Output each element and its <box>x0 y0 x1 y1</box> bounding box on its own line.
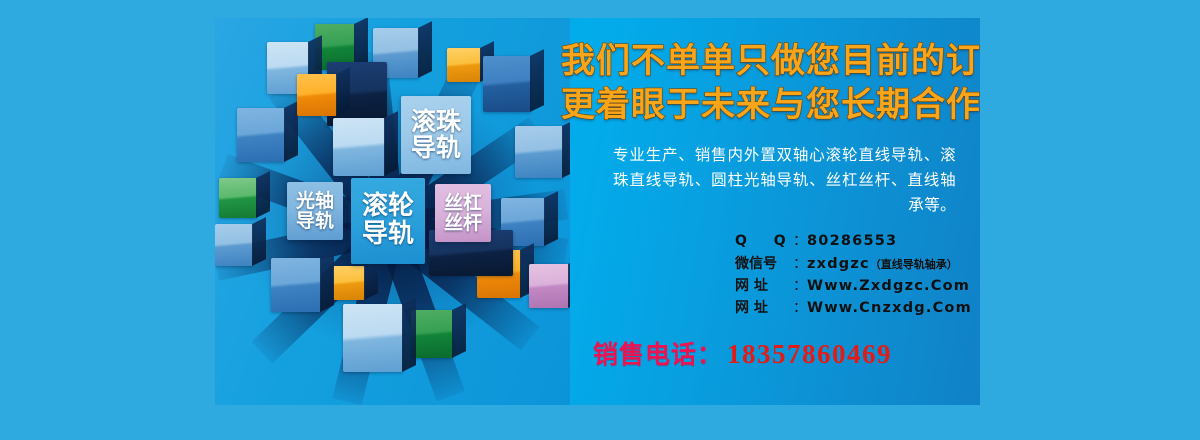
decorative-cube <box>215 224 253 266</box>
cube-label-sigang-sigan: 丝杠 丝杆 <box>435 184 491 242</box>
decorative-cube <box>447 48 481 82</box>
contact-separator: ： <box>793 276 807 297</box>
contact-key: 网 址 <box>735 298 793 319</box>
headline-line-1: 我们不单单只做您目前的订单 <box>561 40 974 84</box>
decorative-cube <box>219 178 257 218</box>
decorative-cube <box>297 74 337 116</box>
decorative-cube <box>333 118 385 176</box>
contact-separator: ： <box>793 298 807 319</box>
contact-row-website-1: 网 址 ： Www.Zxdgzc.Com <box>735 275 974 297</box>
label-line1: 光轴 <box>296 190 334 212</box>
decorative-cube <box>343 304 403 372</box>
contact-value[interactable]: 80286553 <box>807 230 897 252</box>
contact-separator: ： <box>793 231 807 252</box>
contact-key: 微信号 <box>735 254 793 275</box>
contact-block: Q Q ： 80286553 微信号 ： zxdgzc （直线导轨轴承） 网 址… <box>735 230 974 319</box>
decorative-cube <box>333 266 365 300</box>
label-line1: 滚珠 <box>411 107 461 136</box>
contact-value[interactable]: Www.Cnzxdg.Com <box>807 297 972 319</box>
cube-label-guangzhou-daogui: 光轴 导轨 <box>287 182 343 240</box>
decorative-cube <box>237 108 285 162</box>
contact-value[interactable]: Www.Zxdgzc.Com <box>807 275 970 297</box>
label-line2: 导轨 <box>296 210 334 232</box>
contact-key: Q Q <box>735 231 793 252</box>
contact-value[interactable]: zxdgzc <box>807 253 870 275</box>
label-line2: 丝杆 <box>444 212 482 234</box>
cube-label-gunzhu-daogui: 滚珠 导轨 <box>401 96 471 174</box>
label-line2: 导轨 <box>362 219 414 249</box>
label-line2: 导轨 <box>411 133 461 162</box>
contact-row-website-2: 网 址 ： Www.Cnzxdg.Com <box>735 297 974 319</box>
decorative-cube <box>483 56 531 112</box>
contact-row-qq: Q Q ： 80286553 <box>735 230 974 252</box>
sales-phone-label: 销售电话： <box>593 335 723 371</box>
banner-content: 我们不单单只做您目前的订单 更着眼于未来与您长期合作 专业生产、销售内外置双轴心… <box>555 18 980 405</box>
description-text: 专业生产、销售内外置双轴心滚轮直线导轨、滚珠直线导轨、圆柱光轴导轨、丝杠丝杆、直… <box>613 143 956 218</box>
promo-banner: 滚珠 导轨 光轴 导轨 滚轮 导轨 丝杠 丝杆 我们不单单只做您目前的 <box>215 18 980 405</box>
decorative-cube <box>411 310 453 358</box>
cube-cluster-artwork: 滚珠 导轨 光轴 导轨 滚轮 导轨 丝杠 丝杆 <box>215 18 570 405</box>
label-line1: 丝杠 <box>444 192 482 214</box>
cube-label-gunlun-daogui: 滚轮 导轨 <box>351 178 425 264</box>
contact-note: （直线导轨轴承） <box>870 257 958 274</box>
label-line1: 滚轮 <box>362 191 414 221</box>
headline-line-2: 更着眼于未来与您长期合作 <box>561 84 974 128</box>
contact-separator: ： <box>793 254 807 275</box>
sales-phone[interactable]: 销售电话： 18357860469 <box>593 335 974 371</box>
contact-row-wechat: 微信号 ： zxdgzc （直线导轨轴承） <box>735 253 974 275</box>
decorative-cube <box>271 258 321 312</box>
contact-key: 网 址 <box>735 276 793 297</box>
sales-phone-number[interactable]: 18357860469 <box>727 339 892 370</box>
headline: 我们不单单只做您目前的订单 更着眼于未来与您长期合作 <box>561 40 974 127</box>
